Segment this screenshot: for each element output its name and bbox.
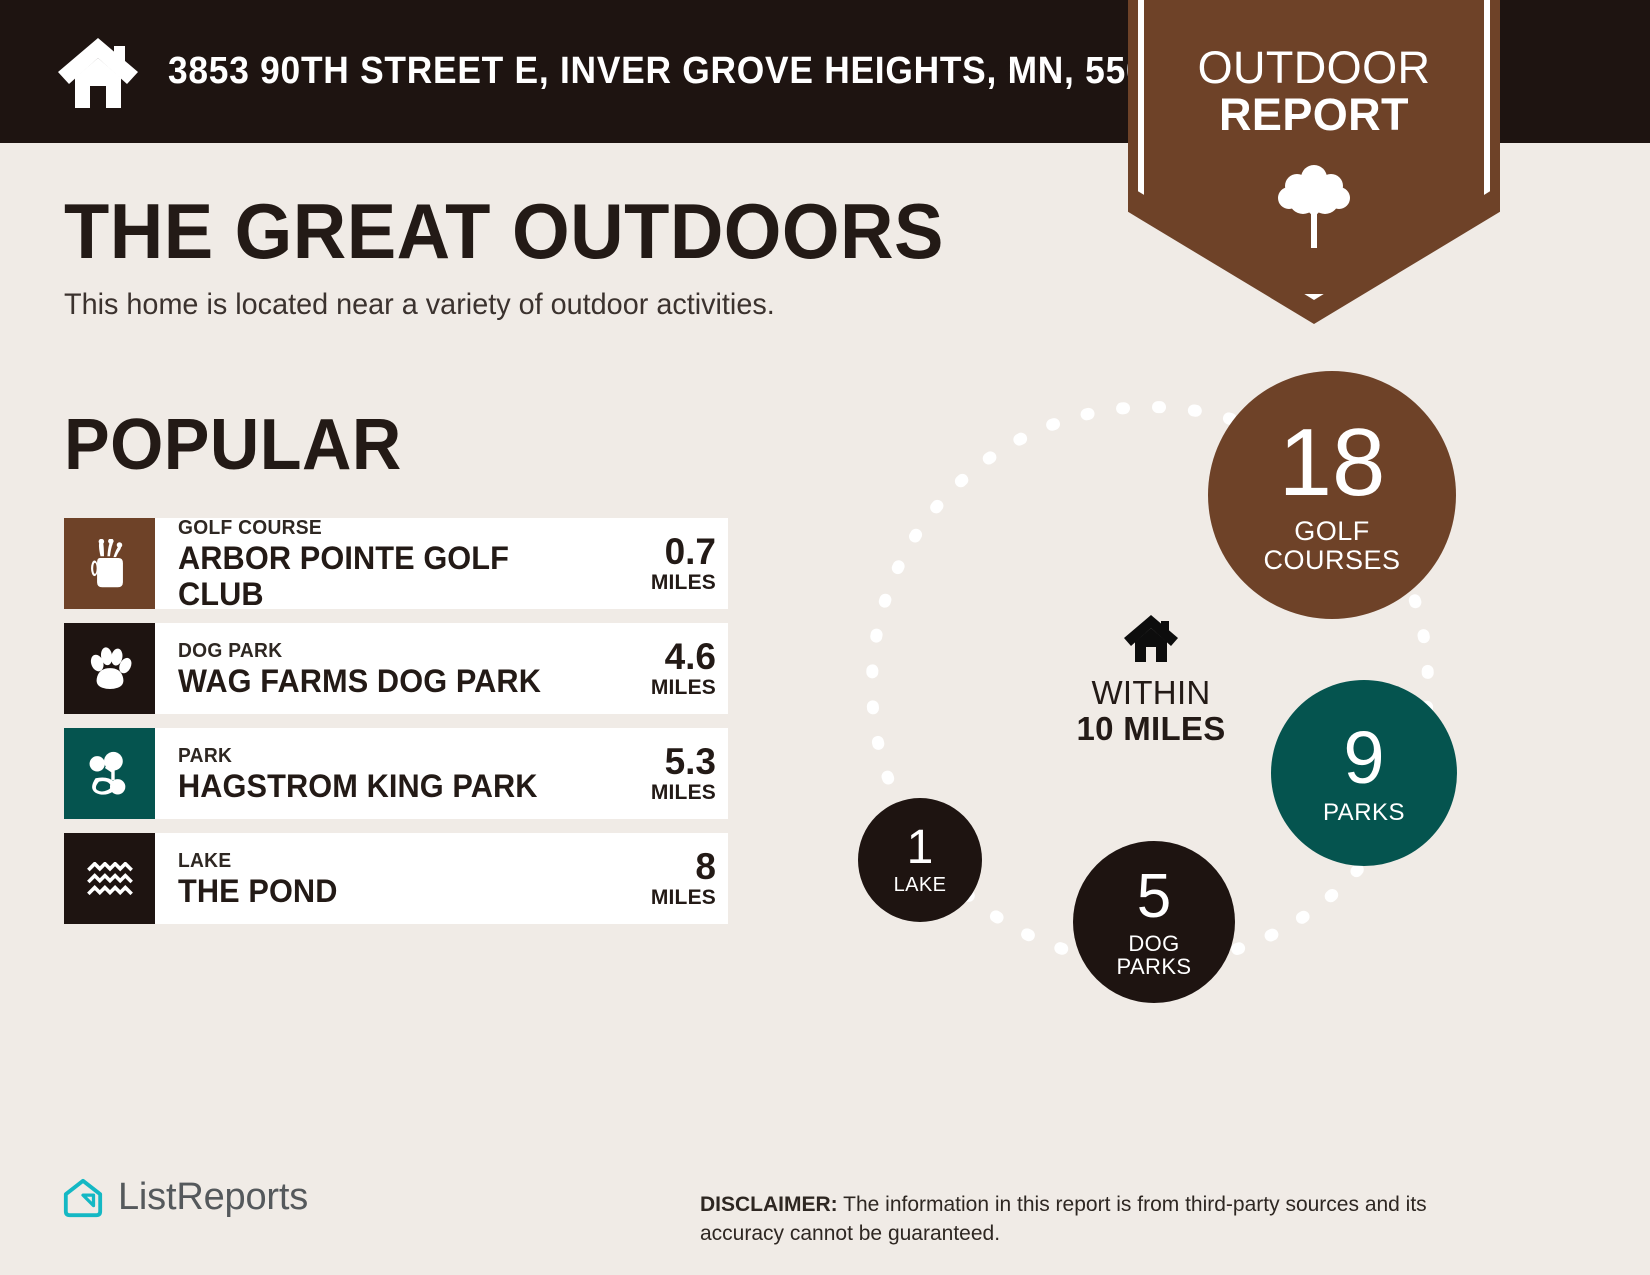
badge-line1: OUTDOOR xyxy=(1128,44,1500,91)
category-tile xyxy=(64,728,155,819)
bubble-label-line1: GOLF xyxy=(1294,517,1370,546)
distance-unit: MILES xyxy=(651,886,716,910)
list-item-text: DOG PARK WAG FARMS DOG PARK xyxy=(155,623,618,714)
category-tile xyxy=(64,518,155,609)
disclaimer: DISCLAIMER: The information in this repo… xyxy=(700,1190,1510,1248)
bubble-dog-parks[interactable]: 5 DOG PARKS xyxy=(1073,841,1235,1003)
tree-icon xyxy=(1272,160,1356,250)
list-item[interactable]: DOG PARK WAG FARMS DOG PARK 4.6 MILES xyxy=(64,623,728,714)
house-icon xyxy=(56,34,140,110)
listreports-logo[interactable]: ListReports xyxy=(62,1176,308,1219)
center-radius-text: 10 MILES xyxy=(1026,711,1276,747)
bubble-label-line2: COURSES xyxy=(1263,546,1400,575)
distance-unit: MILES xyxy=(651,676,716,700)
list-item-text: LAKE THE POND xyxy=(155,833,618,924)
paw-print-icon xyxy=(87,646,133,692)
list-item[interactable]: PARK HAGSTROM KING PARK 5.3 MILES xyxy=(64,728,728,819)
list-item-name: HAGSTROM KING PARK xyxy=(178,768,600,804)
distance-value: 8 xyxy=(695,848,716,886)
list-item-category: PARK xyxy=(178,744,600,768)
badge-line2: REPORT xyxy=(1128,91,1500,138)
bubble-parks[interactable]: 9 PARKS xyxy=(1271,680,1457,866)
amenities-bubble-diagram: 18 GOLF COURSES 9 PARKS 5 DOG PARKS 1 LA… xyxy=(820,355,1520,1055)
list-item-category: GOLF COURSE xyxy=(178,516,600,540)
list-item[interactable]: LAKE THE POND 8 MILES xyxy=(64,833,728,924)
distance-unit: MILES xyxy=(651,571,716,595)
diagram-center-label: WITHIN 10 MILES xyxy=(1026,613,1276,747)
disclaimer-label: DISCLAIMER: xyxy=(700,1193,838,1216)
list-item-name: WAG FARMS DOG PARK xyxy=(178,663,600,699)
list-item-text: GOLF COURSE ARBOR POINTE GOLF CLUB xyxy=(155,518,618,609)
bubble-count: 1 xyxy=(907,824,934,872)
bubble-label-line1: DOG xyxy=(1128,932,1179,955)
house-icon xyxy=(1123,613,1179,663)
distance-unit: MILES xyxy=(651,781,716,805)
listreports-house-icon xyxy=(62,1177,104,1219)
outdoor-report-infographic: 3853 90TH STREET E, INVER GROVE HEIGHTS,… xyxy=(0,0,1650,1275)
badge-label: OUTDOOR REPORT xyxy=(1128,44,1500,138)
list-item-name: THE POND xyxy=(178,873,600,909)
page-subtitle: This home is located near a variety of o… xyxy=(64,288,775,322)
list-item[interactable]: GOLF COURSE ARBOR POINTE GOLF CLUB 0.7 M… xyxy=(64,518,728,609)
list-item-text: PARK HAGSTROM KING PARK xyxy=(155,728,618,819)
list-item-name: ARBOR POINTE GOLF CLUB xyxy=(178,540,600,612)
bubble-label-line1: LAKE xyxy=(894,875,947,896)
distance-value: 4.6 xyxy=(665,638,716,676)
park-trees-icon xyxy=(87,751,133,797)
category-tile xyxy=(64,833,155,924)
bubble-lake[interactable]: 1 LAKE xyxy=(858,798,982,922)
bubble-count: 18 xyxy=(1279,415,1386,511)
golf-bag-icon xyxy=(88,539,132,589)
bubble-golf-courses[interactable]: 18 GOLF COURSES xyxy=(1208,371,1456,619)
popular-heading: POPULAR xyxy=(64,404,402,486)
list-item-distance: 4.6 MILES xyxy=(618,623,728,714)
list-item-distance: 8 MILES xyxy=(618,833,728,924)
property-address: 3853 90TH STREET E, INVER GROVE HEIGHTS,… xyxy=(168,50,1187,93)
page-title: THE GREAT OUTDOORS xyxy=(64,186,944,277)
bubble-label-line1: PARKS xyxy=(1323,800,1405,825)
distance-value: 5.3 xyxy=(665,743,716,781)
bubble-count: 9 xyxy=(1343,721,1384,795)
center-within-text: WITHIN xyxy=(1026,675,1276,711)
bubble-count: 5 xyxy=(1137,866,1171,928)
bubble-label-line2: PARKS xyxy=(1117,955,1192,978)
distance-value: 0.7 xyxy=(665,533,716,571)
list-item-distance: 5.3 MILES xyxy=(618,728,728,819)
popular-list: GOLF COURSE ARBOR POINTE GOLF CLUB 0.7 M… xyxy=(64,518,728,938)
water-waves-icon xyxy=(86,862,134,896)
listreports-wordmark: ListReports xyxy=(118,1176,308,1219)
list-item-category: LAKE xyxy=(178,849,600,873)
list-item-category: DOG PARK xyxy=(178,639,600,663)
list-item-distance: 0.7 MILES xyxy=(618,518,728,609)
category-tile xyxy=(64,623,155,714)
